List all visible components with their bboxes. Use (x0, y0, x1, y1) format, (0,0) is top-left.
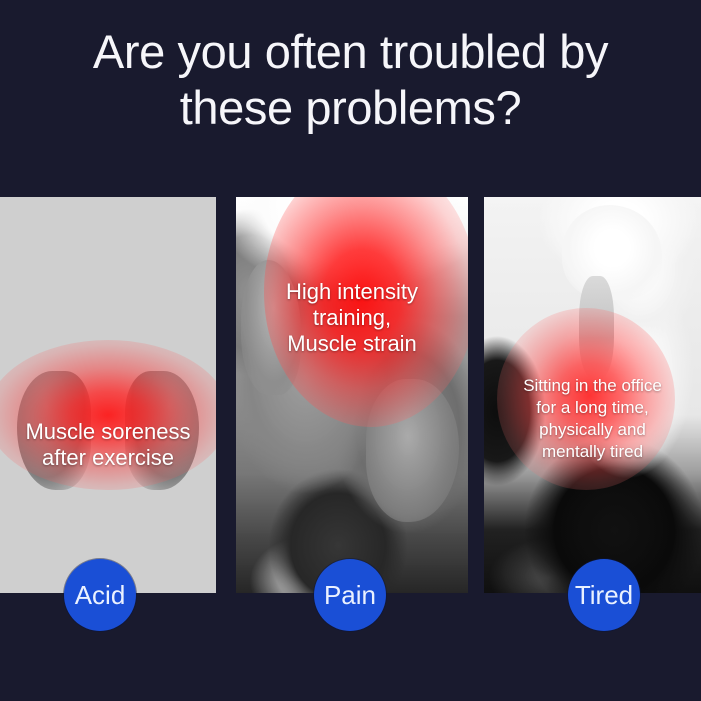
panel-caption-tired-line-4: mentally tired (484, 441, 701, 463)
panel-caption-pain-line-3: Muscle strain (236, 331, 468, 357)
panel-caption-acid: Muscle soreness after exercise (0, 419, 216, 471)
shoulder-pain-photo (236, 197, 468, 593)
problem-panel-tired[interactable]: Sitting in the office for a long time, p… (484, 197, 701, 593)
back-pain-photo (0, 197, 216, 593)
page-title: Are you often troubled by these problems… (0, 24, 701, 136)
badge-pain[interactable]: Pain (314, 559, 386, 631)
panel-caption-pain: High intensity training, Muscle strain (236, 279, 468, 357)
badge-acid[interactable]: Acid (64, 559, 136, 631)
panel-caption-tired-line-1: Sitting in the office (484, 375, 701, 397)
panel-caption-tired: Sitting in the office for a long time, p… (484, 375, 701, 463)
problem-panel-acid[interactable]: Muscle soreness after exercise (0, 197, 216, 593)
panel-caption-tired-line-3: physically and (484, 419, 701, 441)
page-title-line-1: Are you often troubled by (0, 24, 701, 80)
problem-panel-pain[interactable]: High intensity training, Muscle strain (236, 197, 468, 593)
panel-caption-pain-line-1: High intensity (236, 279, 468, 305)
panel-caption-tired-line-2: for a long time, (484, 397, 701, 419)
panel-caption-acid-line-2: after exercise (4, 445, 212, 471)
badge-tired[interactable]: Tired (568, 559, 640, 631)
panel-caption-pain-line-2: training, (236, 305, 468, 331)
panel-caption-acid-line-1: Muscle soreness (4, 419, 212, 445)
page-title-line-2: these problems? (0, 80, 701, 136)
problem-panel-group: Muscle soreness after exercise High inte… (0, 197, 701, 593)
